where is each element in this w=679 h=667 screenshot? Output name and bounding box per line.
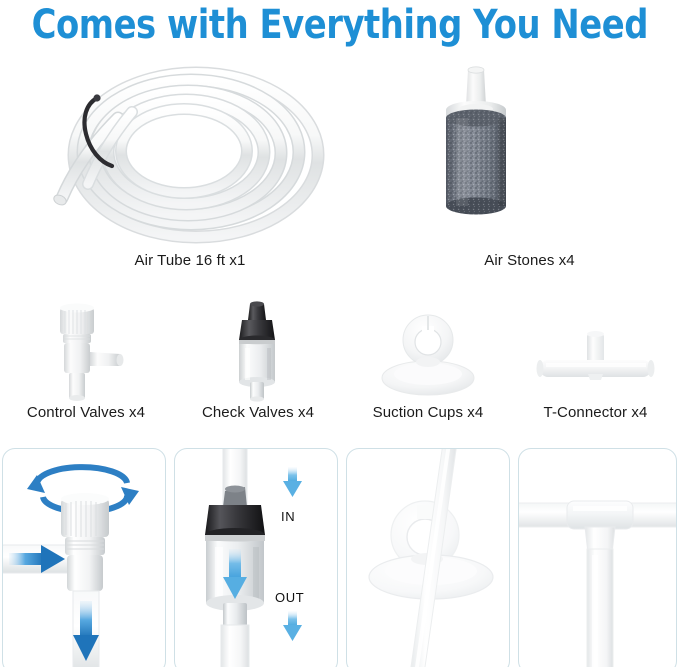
hero-item-air-stones: Air Stones x4 bbox=[380, 52, 679, 284]
control-valve-icon bbox=[0, 296, 172, 404]
panel-t-connector-detail bbox=[518, 448, 677, 667]
hero-label-air-tube: Air Tube 16 ft x1 bbox=[0, 252, 380, 269]
hero-item-air-tube: Air Tube 16 ft x1 bbox=[0, 52, 380, 284]
panel-suction-cup-detail bbox=[346, 448, 510, 667]
air-stone-icon bbox=[380, 52, 679, 250]
part-label-check-valves: Check Valves x4 bbox=[172, 404, 344, 421]
t-connector-icon bbox=[512, 296, 679, 404]
hero-label-air-stones: Air Stones x4 bbox=[380, 252, 679, 269]
part-item-suction-cups: Suction Cups x4 bbox=[344, 296, 512, 436]
part-label-suction-cups: Suction Cups x4 bbox=[344, 404, 512, 421]
product-infographic: Comes with Everything You Need bbox=[0, 0, 679, 667]
page-title-bar: Comes with Everything You Need bbox=[0, 2, 679, 48]
panel-check-valve-detail: IN OUT bbox=[174, 448, 338, 667]
part-item-check-valves: Check Valves x4 bbox=[172, 296, 344, 436]
detail-panels-row: IN OUT bbox=[2, 448, 677, 667]
part-label-control-valves: Control Valves x4 bbox=[0, 404, 172, 421]
flow-label-out: OUT bbox=[275, 590, 304, 605]
parts-row: Control Valves x4 bbox=[0, 296, 679, 436]
panel-control-valve-detail bbox=[2, 448, 166, 667]
control-valve-flow-icon bbox=[3, 449, 165, 667]
check-valve-flow-icon bbox=[175, 449, 337, 667]
in-arrow-icon bbox=[283, 467, 302, 497]
t-connector-tube-icon bbox=[519, 449, 676, 667]
part-item-t-connector: T-Connector x4 bbox=[512, 296, 679, 436]
suction-cup-tube-icon bbox=[347, 449, 509, 667]
flow-label-in: IN bbox=[281, 509, 295, 524]
page-title: Comes with Everything You Need bbox=[31, 2, 647, 48]
coiled-tube-icon bbox=[0, 52, 380, 250]
out-arrow-icon bbox=[283, 611, 302, 641]
part-item-control-valves: Control Valves x4 bbox=[0, 296, 172, 436]
hero-products-row: Air Tube 16 ft x1 bbox=[0, 52, 679, 284]
check-valve-icon bbox=[172, 296, 344, 404]
suction-cup-icon bbox=[344, 296, 512, 404]
part-label-t-connector: T-Connector x4 bbox=[512, 404, 679, 421]
